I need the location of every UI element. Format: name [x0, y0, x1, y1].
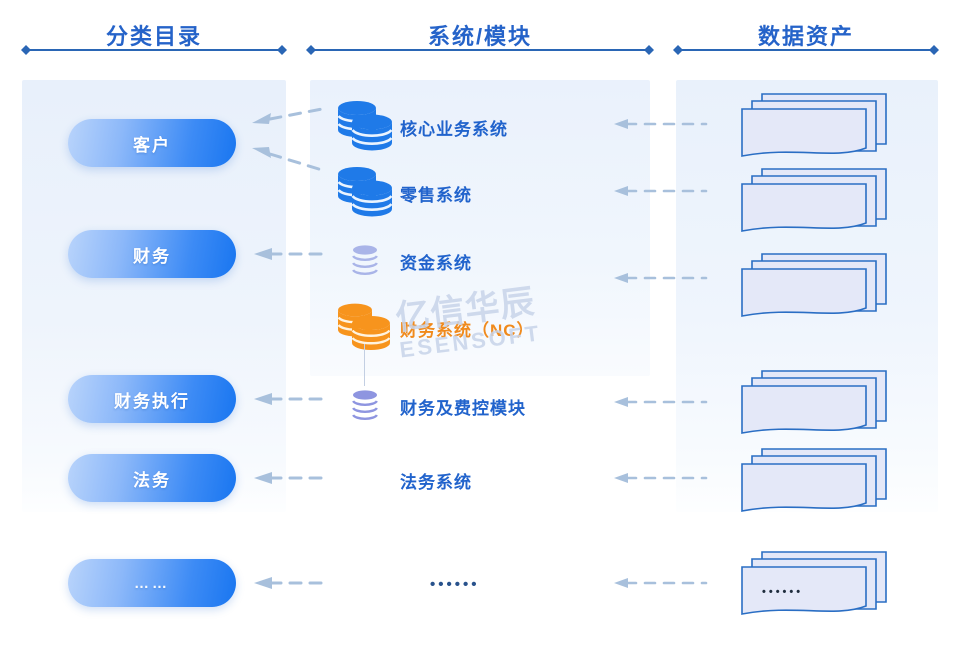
- arrow-retail-to-customer: [252, 146, 324, 176]
- system-label: 财务及费控模块: [400, 394, 526, 419]
- arrow-legal-system-to-legal: [254, 470, 326, 486]
- arrow-core-business-to-customer: [252, 108, 324, 136]
- diagram-canvas: 分类目录 系统/模块 数据资产 客户 财务 财务执行: [0, 0, 957, 648]
- system-label: 财务系统（NC）: [400, 316, 535, 341]
- system-more-indicator: ••••••: [430, 576, 480, 593]
- database-stack-icon: [330, 99, 400, 155]
- system-label: 零售系统: [400, 181, 472, 206]
- database-small-icon: [330, 385, 400, 427]
- system-label: 法务系统: [400, 468, 472, 493]
- data-asset-stack[interactable]: [740, 367, 890, 439]
- system-label: 核心业务系统: [400, 115, 508, 140]
- database-stack-icon: [330, 165, 400, 221]
- system-row-finance-nc[interactable]: 财务系统（NC）: [330, 300, 650, 356]
- arrow-more-to-catalog-more: [254, 575, 326, 591]
- data-asset-stack[interactable]: [740, 165, 890, 237]
- catalog-item-label: 法务: [133, 466, 171, 491]
- data-asset-stack[interactable]: [740, 90, 890, 162]
- catalog-item-customer[interactable]: 客户: [68, 119, 236, 167]
- catalog-item-finance-execution[interactable]: 财务执行: [68, 375, 236, 423]
- database-stack-icon: [330, 300, 400, 356]
- data-asset-stack[interactable]: [740, 250, 890, 322]
- data-asset-stack-more[interactable]: ••••••: [740, 548, 890, 620]
- header-rule-catalog: [20, 44, 288, 56]
- system-row-retail[interactable]: 零售系统: [330, 165, 650, 221]
- arrow-module-to-finance-execution: [254, 391, 326, 407]
- system-row-treasury[interactable]: 资金系统: [330, 233, 650, 289]
- catalog-item-label: 客户: [133, 131, 171, 156]
- header-rule-assets: [672, 44, 940, 56]
- system-label: 资金系统: [400, 249, 472, 274]
- catalog-item-label: 财务执行: [114, 387, 190, 412]
- system-row-legal[interactable]: 法务系统: [330, 452, 650, 508]
- catalog-item-finance[interactable]: 财务: [68, 230, 236, 278]
- header-rule-systems: [305, 44, 655, 56]
- arrow-asset-more-to-system-more: [614, 576, 708, 590]
- arrow-treasury-to-finance: [254, 246, 326, 262]
- data-asset-more-indicator: ••••••: [762, 586, 803, 598]
- data-asset-stack[interactable]: [740, 445, 890, 517]
- catalog-item-more[interactable]: ……: [68, 559, 236, 607]
- catalog-item-label: ……: [134, 575, 170, 592]
- system-row-core-business[interactable]: 核心业务系统: [330, 99, 650, 155]
- catalog-item-label: 财务: [133, 242, 171, 267]
- database-small-icon: [330, 240, 400, 282]
- catalog-item-legal[interactable]: 法务: [68, 454, 236, 502]
- system-row-finance-expense-module[interactable]: 财务及费控模块: [330, 378, 650, 434]
